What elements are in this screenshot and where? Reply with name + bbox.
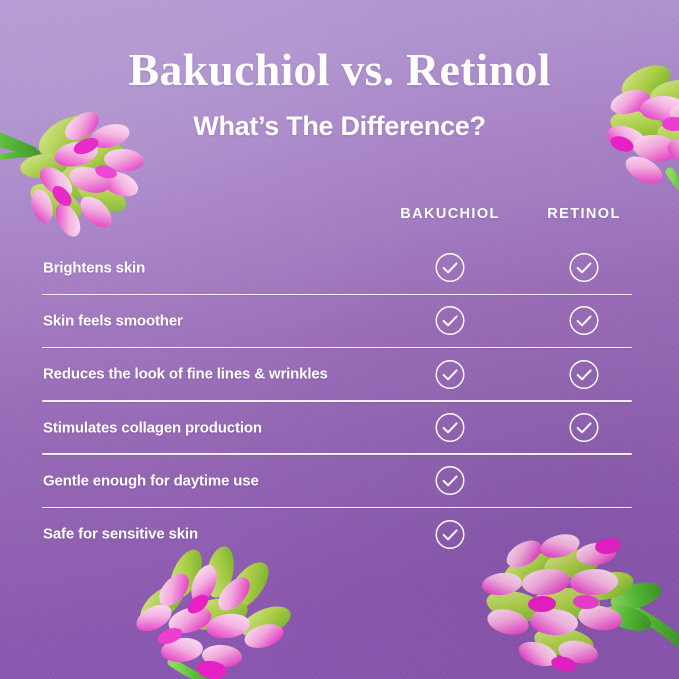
babchi-flower-bottom-left [114, 548, 299, 679]
check-circle-icon-bakuchiol [435, 519, 466, 550]
row-label: Brightens skin [43, 259, 145, 276]
row-label: Gentle enough for daytime use [43, 472, 259, 489]
column-header-bakuchiol: BAKUCHIOL [400, 206, 500, 222]
check-circle-icon-bakuchiol [435, 305, 466, 336]
comparison-table-body: Brightens skinSkin feels smootherReduces… [0, 241, 679, 561]
check-circle-icon-retinol [569, 305, 600, 336]
check-circle-icon-retinol [569, 359, 600, 390]
page-title: Bakuchiol vs. Retinol [0, 44, 679, 96]
row-label: Skin feels smoother [43, 312, 183, 329]
table-row: Skin feels smoother [0, 294, 679, 347]
table-row: Stimulates collagen production [0, 401, 679, 454]
check-circle-icon-bakuchiol [435, 412, 466, 443]
check-circle-icon-bakuchiol [435, 465, 466, 496]
table-column-headers: BAKUCHIOL RETINOL [0, 206, 679, 226]
table-row: Safe for sensitive skin [0, 507, 679, 560]
row-label: Stimulates collagen production [43, 419, 262, 436]
table-row: Brightens skin [0, 241, 679, 294]
row-label: Reduces the look of fine lines & wrinkle… [43, 366, 328, 383]
check-circle-icon-retinol [569, 252, 600, 283]
row-label: Safe for sensitive skin [43, 526, 198, 543]
table-row: Reduces the look of fine lines & wrinkle… [0, 348, 679, 401]
infographic-canvas: Bakuchiol vs. Retinol What’s The Differe… [0, 0, 679, 679]
babchi-flower-top-left [0, 78, 166, 253]
check-circle-icon-bakuchiol [435, 252, 466, 283]
page-subtitle: What’s The Difference? [0, 110, 679, 142]
check-circle-icon-retinol [569, 412, 600, 443]
check-circle-icon-bakuchiol [435, 359, 466, 390]
table-row: Gentle enough for daytime use [0, 454, 679, 507]
column-header-retinol: RETINOL [547, 206, 620, 222]
